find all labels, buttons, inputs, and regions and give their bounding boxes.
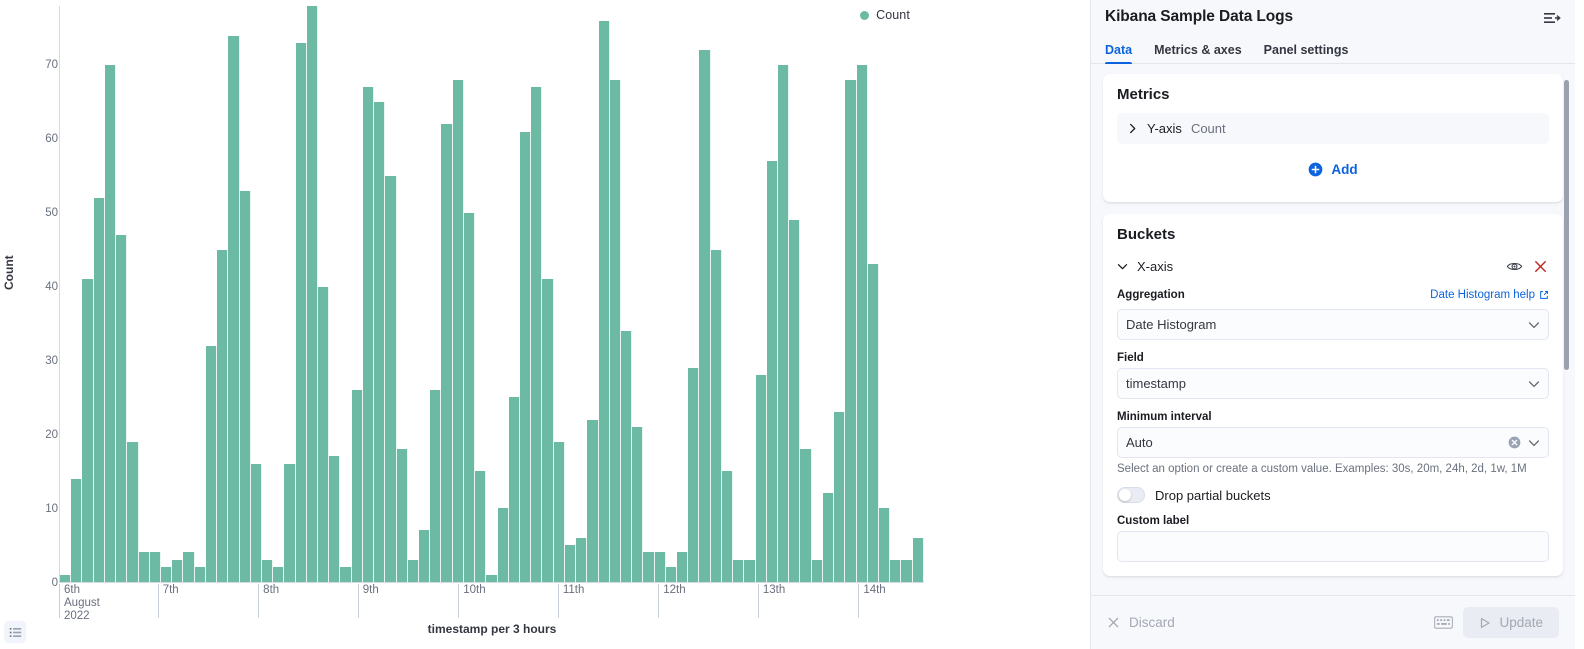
bar[interactable] <box>666 567 677 582</box>
x-axis-tick-label: 6th August 2022 <box>59 584 100 618</box>
panel-title: Kibana Sample Data Logs <box>1105 8 1293 26</box>
play-icon <box>1479 617 1491 629</box>
remove-bucket-icon[interactable] <box>1532 258 1549 275</box>
bar[interactable] <box>172 560 183 582</box>
bar[interactable] <box>183 552 194 582</box>
bar[interactable] <box>688 368 699 582</box>
bar[interactable] <box>116 235 127 582</box>
bar[interactable] <box>901 560 912 582</box>
eye-icon[interactable] <box>1506 258 1523 275</box>
bar[interactable] <box>139 552 150 582</box>
bar[interactable] <box>621 331 632 582</box>
bar[interactable] <box>800 449 811 582</box>
bar[interactable] <box>767 161 778 582</box>
bar[interactable] <box>789 220 800 582</box>
aggregation-label: Aggregation <box>1117 289 1185 301</box>
close-icon <box>1107 616 1120 629</box>
drop-partial-buckets-toggle[interactable] <box>1117 487 1145 503</box>
field-select[interactable]: timestamp <box>1117 368 1549 399</box>
bar[interactable] <box>397 449 408 582</box>
bar[interactable] <box>273 567 284 582</box>
drop-partial-buckets-row[interactable]: Drop partial buckets <box>1117 487 1549 503</box>
panel-scroll-region: Metrics Y-axis Count Add <box>1091 64 1575 595</box>
x-axis-tick-label: 11th <box>558 584 585 618</box>
chevron-down-icon <box>1117 261 1128 272</box>
bar[interactable] <box>127 442 138 582</box>
bar[interactable] <box>643 552 654 582</box>
buckets-card: Buckets X-axis <box>1103 214 1563 576</box>
custom-label-input[interactable] <box>1117 531 1549 562</box>
bucket-row-x-axis[interactable]: X-axis <box>1117 253 1549 279</box>
buckets-title: Buckets <box>1117 226 1549 243</box>
bar[interactable] <box>82 279 93 582</box>
bar[interactable] <box>531 87 542 582</box>
y-axis-title: Count <box>2 255 16 290</box>
bar[interactable] <box>430 390 441 582</box>
data-table-toggle-button[interactable] <box>4 621 26 643</box>
aggregation-select[interactable]: Date Histogram <box>1117 309 1549 340</box>
add-metric-button[interactable]: Add <box>1117 150 1549 188</box>
bar[interactable] <box>756 375 767 582</box>
bar[interactable] <box>385 176 396 582</box>
bar[interactable] <box>307 6 318 582</box>
bar[interactable] <box>318 287 329 582</box>
bar[interactable] <box>296 43 307 582</box>
bar[interactable] <box>520 132 531 582</box>
bar[interactable] <box>340 567 351 582</box>
panel-header: Kibana Sample Data Logs <box>1091 0 1575 34</box>
update-label: Update <box>1499 615 1543 630</box>
chevron-down-icon <box>1528 437 1540 449</box>
bar[interactable] <box>150 552 161 582</box>
bar[interactable] <box>587 420 598 582</box>
y-axis-tick-label: 0 <box>20 577 58 589</box>
bar[interactable] <box>778 65 789 582</box>
bar[interactable] <box>195 567 206 582</box>
bar[interactable] <box>206 346 217 582</box>
chevron-down-icon <box>1528 319 1540 331</box>
add-metric-label: Add <box>1331 162 1357 177</box>
metrics-title: Metrics <box>1117 86 1549 103</box>
editor-side-panel: Kibana Sample Data Logs Data Metrics & a… <box>1090 0 1575 649</box>
bar[interactable] <box>419 530 430 582</box>
bar[interactable] <box>284 464 295 582</box>
metric-axis-name: Y-axis <box>1147 121 1182 136</box>
bar[interactable] <box>834 412 845 582</box>
bar[interactable] <box>711 250 722 582</box>
bar[interactable] <box>498 508 509 582</box>
bar[interactable] <box>610 80 621 582</box>
y-axis-tick-label: 30 <box>20 355 58 367</box>
bar[interactable] <box>509 397 520 582</box>
bar[interactable] <box>890 560 901 582</box>
bar[interactable] <box>71 479 82 582</box>
list-icon <box>9 626 22 639</box>
bar[interactable] <box>94 198 105 582</box>
x-axis-tick-label: 14th <box>858 584 885 618</box>
chevron-right-icon <box>1127 123 1138 134</box>
x-axis-ticks: 6th August 20227th8th9th10th11th12th13th… <box>59 584 925 624</box>
update-button[interactable]: Update <box>1463 607 1559 638</box>
field-label: Field <box>1117 352 1549 364</box>
bar[interactable] <box>699 50 710 582</box>
bar[interactable] <box>374 102 385 582</box>
minimum-interval-helper-text: Select an option or create a custom valu… <box>1117 462 1549 477</box>
bar[interactable] <box>105 65 116 582</box>
bar[interactable] <box>228 36 239 582</box>
bar[interactable] <box>262 560 273 582</box>
bar[interactable] <box>868 264 879 582</box>
panel-tabs: Data Metrics & axes Panel settings <box>1091 34 1575 64</box>
bar[interactable] <box>240 191 251 582</box>
x-axis-tick-label: 13th <box>758 584 785 618</box>
bar[interactable] <box>251 464 262 582</box>
keyboard-shortcuts-icon[interactable] <box>1434 615 1453 630</box>
bar[interactable] <box>823 493 834 582</box>
tab-data[interactable]: Data <box>1105 43 1132 63</box>
x-axis-tick-label: 9th <box>358 584 379 618</box>
y-axis-tick-label: 10 <box>20 503 58 515</box>
bar[interactable] <box>812 560 823 582</box>
external-link-icon <box>1539 290 1549 300</box>
bar[interactable] <box>722 471 733 582</box>
bar[interactable] <box>744 560 755 582</box>
bar[interactable] <box>655 552 666 582</box>
chart-pane: Count Count 010203040506070 6th August 2… <box>0 0 1090 649</box>
chevron-down-icon <box>1528 378 1540 390</box>
bar[interactable] <box>913 538 924 582</box>
discard-button[interactable]: Discard <box>1107 615 1175 630</box>
kibana-visualize-editor: Count Count 010203040506070 6th August 2… <box>0 0 1584 649</box>
bar[interactable] <box>408 560 419 582</box>
bar[interactable] <box>632 427 643 582</box>
y-axis-tick-label: 50 <box>20 207 58 219</box>
x-axis-tick-label: 7th <box>158 584 179 618</box>
bar[interactable] <box>453 80 464 582</box>
panel-scrollbar-thumb[interactable] <box>1564 80 1569 370</box>
panel-scroll-track[interactable] <box>1567 72 1572 587</box>
metrics-card: Metrics Y-axis Count Add <box>1103 74 1563 202</box>
bar[interactable] <box>329 456 340 582</box>
bar[interactable] <box>677 552 688 582</box>
bar[interactable] <box>565 545 576 582</box>
panel-footer: Discard Update <box>1091 595 1575 649</box>
bar[interactable] <box>599 21 610 582</box>
bar[interactable] <box>857 65 868 582</box>
bar[interactable] <box>845 80 856 582</box>
metric-row-y-axis[interactable]: Y-axis Count <box>1117 113 1549 144</box>
tab-metrics-axes[interactable]: Metrics & axes <box>1154 43 1242 63</box>
y-axis-ticks: 010203040506070 <box>20 0 58 583</box>
minimum-interval-value: Auto <box>1126 435 1508 450</box>
bar[interactable] <box>576 538 587 582</box>
y-axis-tick-label: 60 <box>20 133 58 145</box>
x-axis-tick-label: 12th <box>658 584 685 618</box>
y-axis-tick-label: 20 <box>20 429 58 441</box>
x-axis-tick-label: 10th <box>458 584 485 618</box>
minimum-interval-label: Minimum interval <box>1117 411 1549 423</box>
bar[interactable] <box>554 442 565 582</box>
bar[interactable] <box>475 471 486 582</box>
x-axis-tick-label: 8th <box>258 584 279 618</box>
metric-agg-value: Count <box>1191 121 1226 136</box>
bar[interactable] <box>217 250 228 582</box>
toggle-knob <box>1119 489 1131 501</box>
field-value: timestamp <box>1126 376 1528 391</box>
x-axis-title: timestamp per 3 hours <box>59 622 925 636</box>
bar[interactable] <box>486 575 497 582</box>
bar[interactable] <box>363 87 374 582</box>
bar[interactable] <box>464 213 475 582</box>
minimum-interval-select[interactable]: Auto <box>1117 427 1549 458</box>
drop-partial-buckets-label: Drop partial buckets <box>1155 488 1271 503</box>
collapse-panel-icon[interactable] <box>1543 10 1561 26</box>
bucket-axis-name: X-axis <box>1137 259 1173 274</box>
bar[interactable] <box>879 508 890 582</box>
bar[interactable] <box>352 390 363 582</box>
bar[interactable] <box>441 124 452 582</box>
date-histogram-help-label: Date Histogram help <box>1430 289 1535 301</box>
aggregation-label-row: Aggregation Date Histogram help <box>1117 289 1549 305</box>
bar[interactable] <box>542 279 553 582</box>
aggregation-value: Date Histogram <box>1126 317 1528 332</box>
bar[interactable] <box>60 575 71 582</box>
y-axis-tick-label: 70 <box>20 59 58 71</box>
bar-series <box>60 6 924 582</box>
bar[interactable] <box>733 560 744 582</box>
discard-label: Discard <box>1129 615 1175 630</box>
add-circle-icon <box>1308 162 1323 177</box>
y-axis-tick-label: 40 <box>20 281 58 293</box>
bar[interactable] <box>161 567 172 582</box>
date-histogram-help-link[interactable]: Date Histogram help <box>1430 289 1549 301</box>
tab-panel-settings[interactable]: Panel settings <box>1264 43 1349 63</box>
custom-label-label: Custom label <box>1117 515 1549 527</box>
clear-icon[interactable] <box>1508 436 1521 449</box>
plot-area[interactable] <box>59 6 924 583</box>
